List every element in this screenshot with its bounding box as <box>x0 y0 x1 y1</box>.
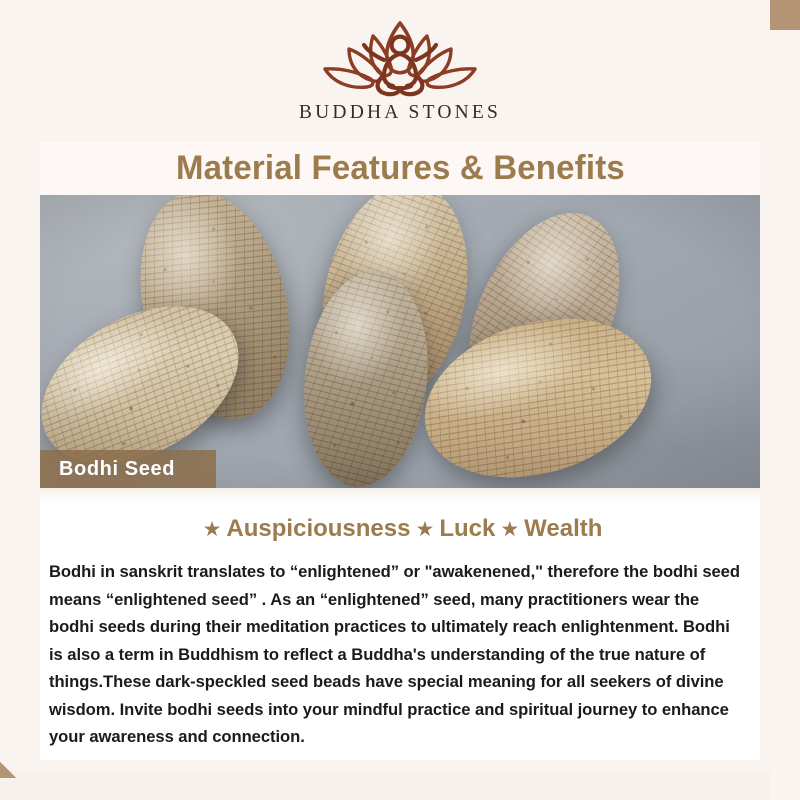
benefit-luck: Luck <box>439 515 495 542</box>
frame-bottom-strip <box>0 770 770 800</box>
star-icon-3: ★ <box>500 518 519 541</box>
description-line: Bodhi in sanskrit translates to “enlight… <box>49 558 751 586</box>
lotus-meditation-figure-icon <box>305 16 495 100</box>
content-panel: ★Auspiciousness★Luck★Wealth Bodhi in san… <box>40 488 760 760</box>
description-line: wisdom. Invite bodhi seeds into your min… <box>49 696 751 724</box>
star-icon-2: ★ <box>415 518 434 541</box>
seed-label-badge: Bodhi Seed <box>40 450 216 488</box>
brand-name: BUDDHA STONES <box>299 102 501 124</box>
description-line: bodhi seeds during their meditation prac… <box>49 613 751 641</box>
poster-root: BUDDHA STONES Material Features & Benefi… <box>0 0 800 800</box>
description-line: things.These dark-speckled seed beads ha… <box>49 668 751 696</box>
description-line: your awareness and connection. <box>49 723 751 751</box>
benefit-wealth: Wealth <box>524 515 602 542</box>
star-icon-1: ★ <box>203 518 222 541</box>
description-text: Bodhi in sanskrit translates to “enlight… <box>49 558 751 751</box>
benefits-headline: ★Auspiciousness★Luck★Wealth <box>40 515 760 543</box>
seed-label-text: Bodhi Seed <box>40 458 175 481</box>
description-line: means “enlightened seed” . As an “enligh… <box>49 586 751 614</box>
photo-vignette <box>40 195 760 488</box>
content-top-fade <box>40 488 760 502</box>
benefit-auspiciousness: Auspiciousness <box>226 515 410 542</box>
page-title: Material Features & Benefits <box>176 149 625 188</box>
title-banner: Material Features & Benefits <box>40 142 760 195</box>
product-photo <box>40 195 760 488</box>
corner-notch-icon <box>0 762 16 778</box>
brand-logo <box>300 16 500 100</box>
description-line: is also a term in Buddhism to reflect a … <box>49 641 751 669</box>
